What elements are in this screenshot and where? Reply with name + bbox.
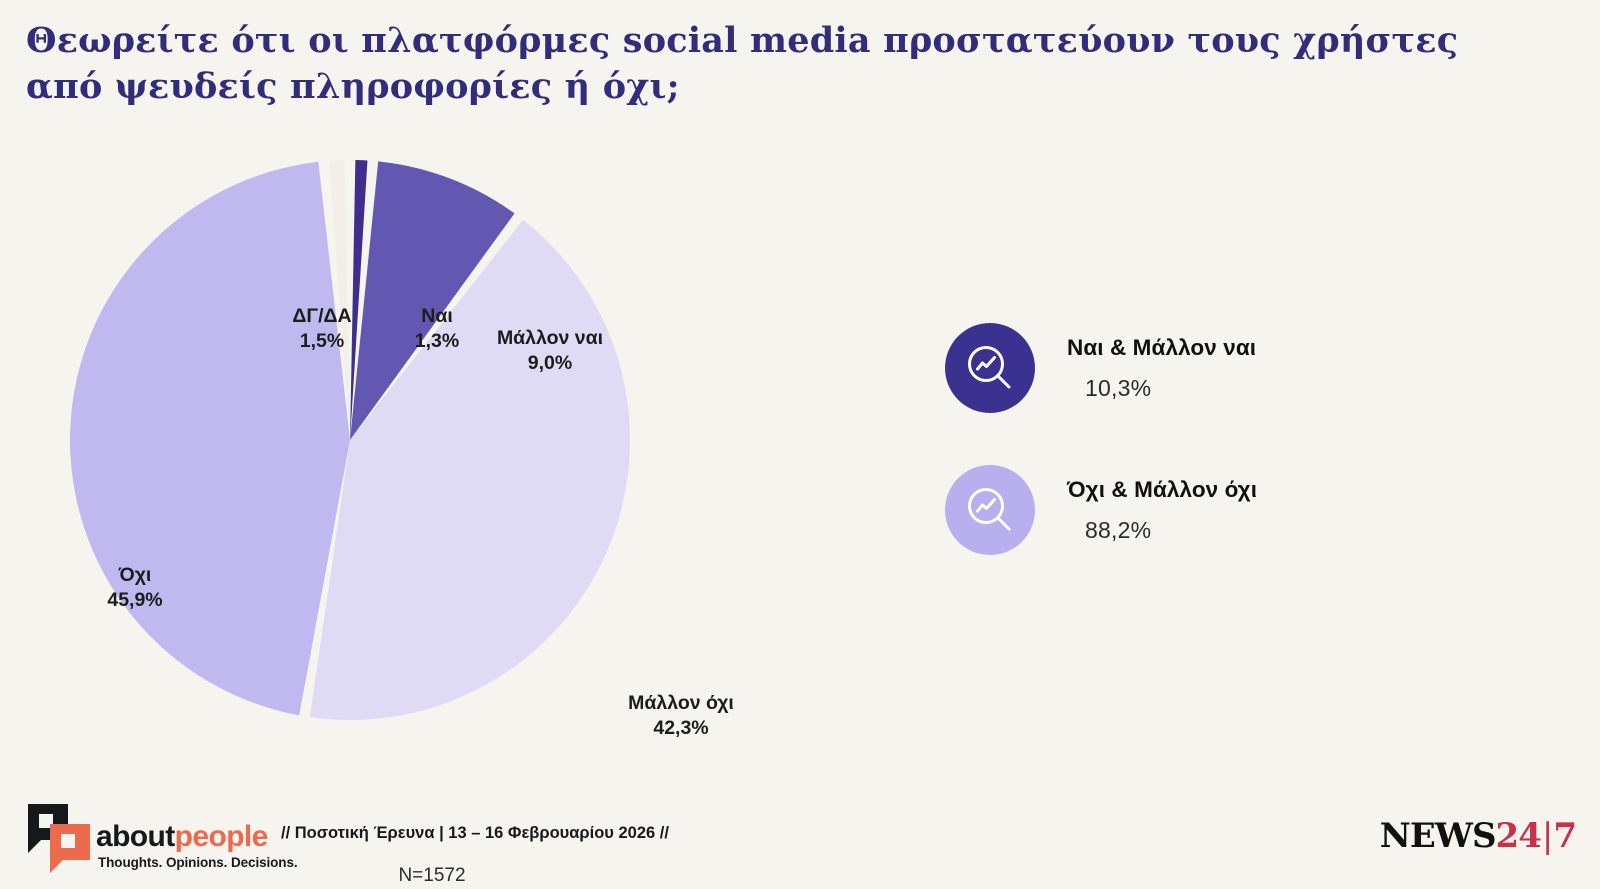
aboutpeople-wordmark: aboutpeople <box>96 820 268 854</box>
news247-24: 24 <box>1496 816 1541 856</box>
pie-label-mallon-oxi-name: Μάλλον όχι <box>596 691 766 716</box>
pie-label-oxi: Όχι 45,9% <box>80 563 190 613</box>
pie-label-oxi-value: 45,9% <box>80 588 190 613</box>
pie-label-mallon-nai-value: 9,0% <box>470 351 630 376</box>
pie-label-oxi-name: Όχι <box>80 563 190 588</box>
news247-word: NEWS <box>1380 816 1496 856</box>
pie-label-nai: Ναι 1,3% <box>396 304 478 354</box>
magnifier-trend-icon <box>963 341 1017 395</box>
legend-badge-no <box>945 465 1035 555</box>
legend-label-yes: Ναι & Μάλλον ναι <box>1067 335 1256 361</box>
news247-divider: | <box>1541 816 1553 856</box>
legend-item-no: Όχι & Μάλλον όχι 88,2% <box>945 460 1465 560</box>
footer: aboutpeople Thoughts. Opinions. Decision… <box>0 786 1600 889</box>
speech-bubble-orange-icon <box>50 824 90 860</box>
page-title-line-1: Θεωρείτε ότι οι πλατφόρμες social media … <box>26 18 1566 64</box>
speech-bubble-orange-hole <box>61 834 75 848</box>
pie-chart <box>60 150 640 730</box>
pie-label-dgda: ΔΓ/ΔΑ 1,5% <box>262 304 382 354</box>
page-title-line-2: από ψευδείς πληροφορίες ή όχι; <box>26 64 1566 110</box>
news247-7: 7 <box>1553 816 1576 856</box>
magnifier-trend-icon <box>963 483 1017 537</box>
legend-badge-yes <box>945 323 1035 413</box>
survey-meta: // Ποσοτική Έρευνα | 13 – 16 Φεβρουαρίου… <box>281 824 669 843</box>
news247-logo: NEWS24|7 <box>1380 816 1576 856</box>
pie-label-mallon-oxi: Μάλλον όχι 42,3% <box>596 691 766 741</box>
pie-slice <box>70 162 350 716</box>
pie-label-nai-name: Ναι <box>396 304 478 329</box>
pie-label-mallon-oxi-value: 42,3% <box>596 716 766 741</box>
pie-chart-area: ΔΓ/ΔΑ 1,5% Ναι 1,3% Μάλλον ναι 9,0% Μάλλ… <box>0 140 900 780</box>
legend: Ναι & Μάλλον ναι 10,3% Όχι & Μάλλον όχι … <box>945 318 1465 602</box>
pie-label-dgda-name: ΔΓ/ΔΑ <box>262 304 382 329</box>
legend-value-no: 88,2% <box>1085 517 1257 544</box>
legend-text-yes: Ναι & Μάλλον ναι 10,3% <box>1067 335 1256 402</box>
legend-value-yes: 10,3% <box>1085 375 1256 402</box>
pie-label-mallon-nai: Μάλλον ναι 9,0% <box>470 326 630 376</box>
legend-label-no: Όχι & Μάλλον όχι <box>1067 477 1257 503</box>
pie-slice-group <box>70 160 630 720</box>
pie-label-dgda-value: 1,5% <box>262 329 382 354</box>
page-title: Θεωρείτε ότι οι πλατφόρμες social media … <box>26 18 1566 110</box>
wordmark-people: people <box>175 820 268 853</box>
legend-text-no: Όχι & Μάλλον όχι 88,2% <box>1067 477 1257 544</box>
pie-label-mallon-nai-name: Μάλλον ναι <box>470 326 630 351</box>
pie-label-nai-value: 1,3% <box>396 329 478 354</box>
legend-item-yes: Ναι & Μάλλον ναι 10,3% <box>945 318 1465 418</box>
aboutpeople-logo: aboutpeople Thoughts. Opinions. Decision… <box>28 798 273 876</box>
aboutpeople-tagline: Thoughts. Opinions. Decisions. <box>98 855 298 870</box>
wordmark-about: about <box>96 820 175 853</box>
